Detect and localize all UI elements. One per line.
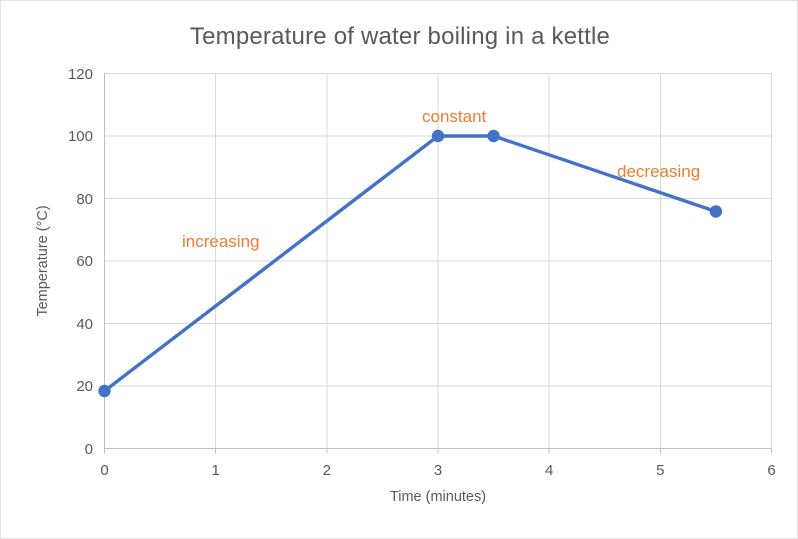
x-axis-title: Time (minutes) <box>390 489 486 505</box>
y-tick-label-20: 20 <box>76 378 93 395</box>
x-tick-label-1: 1 <box>212 462 220 479</box>
x-tick-label-6: 6 <box>767 462 775 479</box>
y-tick-label-80: 80 <box>76 191 93 208</box>
y-axis-title: Temperature (°C) <box>35 205 51 316</box>
x-axis-tickmarks <box>105 449 772 454</box>
annotation-constant: constant <box>422 107 487 126</box>
y-tick-label-60: 60 <box>76 253 93 270</box>
x-axis-tick-labels: 0 1 2 3 4 5 6 <box>100 462 775 479</box>
y-tick-label-40: 40 <box>76 316 93 333</box>
y-tick-label-120: 120 <box>68 66 93 83</box>
chart-container: Temperature of water boiling in a kettle <box>0 0 798 539</box>
x-tick-label-3: 3 <box>434 462 442 479</box>
x-tick-label-4: 4 <box>545 462 553 479</box>
y-tick-label-0: 0 <box>85 441 93 458</box>
annotation-increasing: increasing <box>182 232 260 251</box>
data-point-2[interactable] <box>487 130 499 142</box>
line-chart-plot: 120 100 80 60 40 20 0 0 1 2 3 4 5 6 Time… <box>1 1 798 539</box>
x-tick-label-0: 0 <box>100 462 108 479</box>
x-tick-label-5: 5 <box>656 462 664 479</box>
data-point-0[interactable] <box>98 385 110 397</box>
x-tick-label-2: 2 <box>323 462 331 479</box>
y-tick-label-100: 100 <box>68 128 93 145</box>
data-point-3[interactable] <box>710 205 722 217</box>
data-point-1[interactable] <box>432 130 444 142</box>
annotation-decreasing: decreasing <box>617 162 700 181</box>
y-axis-tick-labels: 120 100 80 60 40 20 0 <box>68 66 93 458</box>
